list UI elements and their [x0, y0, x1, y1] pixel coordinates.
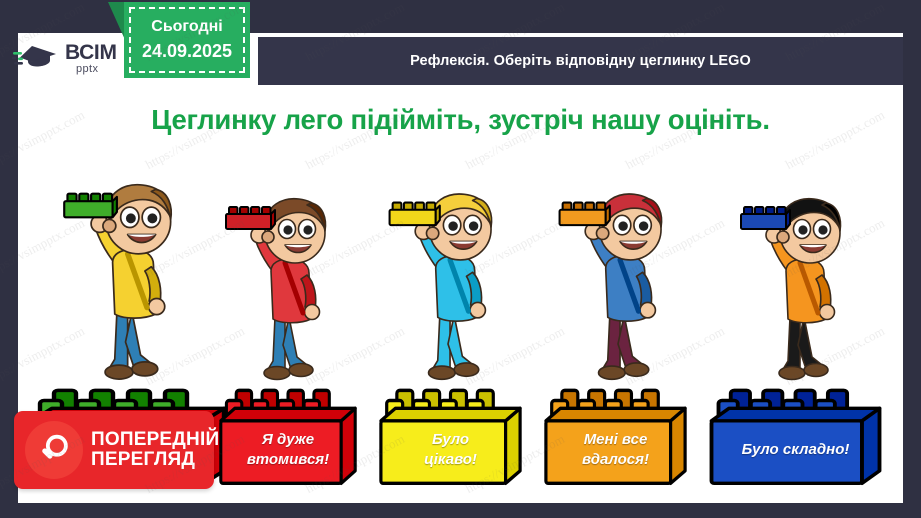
kid-boy-yellow-jacket [38, 170, 213, 390]
kid-boy-red-sweater [203, 185, 363, 390]
page-title: Цеглинку лего підійміть, зустріч нашу оц… [0, 104, 921, 136]
date-badge-value: 24.09.2025 [142, 41, 232, 62]
brick-orange[interactable]: Мені всевдалося! [543, 388, 688, 488]
bottom-strip [0, 503, 921, 518]
brick-yellow[interactable]: Булоцікаво! [378, 388, 523, 488]
graduation-cap-icon [12, 42, 60, 76]
header-bar: Рефлексія. Оберіть відповідну цеглинку L… [258, 37, 903, 85]
kid-girl-redhair-blue-dress [528, 180, 708, 390]
logo-main-text: ВСІМ [65, 43, 117, 63]
preview-badge[interactable]: ПОПЕРЕДНІЙ ПЕРЕГЛЯД [14, 411, 214, 489]
date-badge-label: Сьогодні [151, 18, 222, 36]
brand-logo: ВСІМ pptx [12, 36, 132, 82]
header-title: Рефлексія. Оберіть відповідну цеглинку L… [410, 53, 751, 69]
date-badge: Сьогодні 24.09.2025 [124, 2, 250, 78]
magnifier-icon [25, 421, 83, 479]
kid-boy-orange-shirt [708, 185, 888, 390]
kids-row [18, 160, 903, 390]
logo-sub-text: pptx [76, 64, 117, 75]
preview-badge-line2: ПЕРЕГЛЯД [91, 450, 219, 470]
brick-red[interactable]: Я дужевтомився! [218, 388, 358, 488]
kid-girl-blonde-dress [363, 180, 533, 390]
brick-blue[interactable]: Було складно! [708, 388, 883, 488]
preview-badge-line1: ПОПЕРЕДНІЙ [91, 430, 219, 450]
slide-root: ВСІМ pptx Сьогодні 24.09.2025 Рефлексія.… [0, 0, 921, 518]
